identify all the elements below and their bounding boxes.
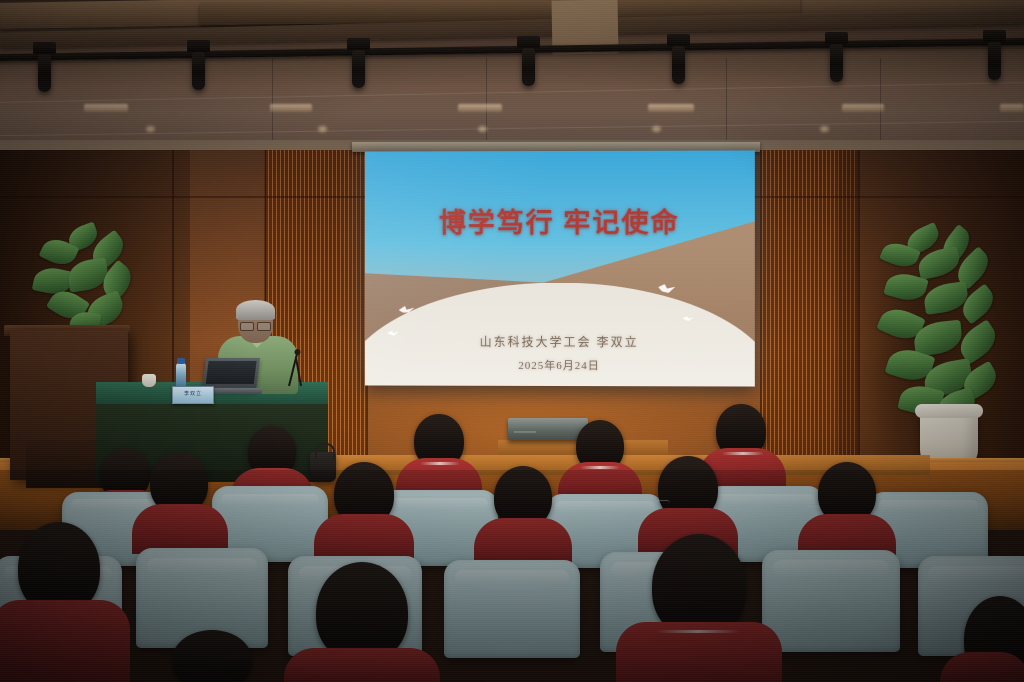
- slide-date-line: 2025年6月24日: [365, 357, 755, 374]
- handbag: [310, 452, 336, 482]
- recessed-panel-light: [1000, 104, 1024, 112]
- track-spotlight-icon: [988, 40, 1001, 80]
- ceiling-downlight: [146, 126, 155, 132]
- audience-chair: [762, 550, 900, 652]
- speaker-hair: [236, 300, 275, 320]
- recessed-panel-light: [84, 104, 128, 112]
- recessed-panel-light: [842, 104, 884, 112]
- ceiling-panel-seam: [0, 82, 1024, 103]
- ceiling: [0, 0, 1024, 152]
- eyeglasses-icon: [806, 506, 820, 512]
- slide-title: 博学笃行 牢记使命: [365, 201, 755, 240]
- ceiling-downlight: [652, 126, 661, 132]
- track-spotlight-icon: [522, 46, 535, 86]
- audience-chair: [444, 560, 580, 658]
- ceiling-downlight: [478, 126, 487, 132]
- ceiling-downlight: [318, 126, 327, 132]
- recessed-panel-light: [648, 104, 694, 112]
- water-bottle-cap: [177, 358, 185, 364]
- ceiling-panel-seam: [726, 58, 727, 152]
- speaker-glasses-icon: [240, 322, 271, 329]
- speaker-nameplate-text: 李双立: [173, 387, 213, 402]
- projection-screen: 博学笃行 牢记使命 山东科技大学工会 李双立 2025年6月24日: [365, 150, 755, 386]
- track-spotlight-icon: [352, 48, 365, 88]
- eyeglasses-icon: [656, 500, 670, 506]
- ceiling-downlight: [820, 126, 829, 132]
- recessed-panel-light: [270, 104, 312, 112]
- laptop-screen: [206, 361, 257, 384]
- track-spotlight-icon: [830, 42, 843, 82]
- potted-plant-left: [34, 226, 144, 336]
- slide-organization-line: 山东科技大学工会 李双立: [365, 333, 755, 351]
- tea-cup: [142, 374, 156, 387]
- track-spotlight-icon: [192, 50, 205, 90]
- speaker-nameplate: 李双立: [172, 386, 214, 404]
- recessed-panel-light: [458, 104, 502, 112]
- av-equipment-unit: [508, 418, 588, 440]
- track-spotlight-icon: [38, 52, 51, 92]
- track-spotlight-icon: [672, 44, 685, 84]
- lecture-hall-photo: 博学笃行 牢记使命 山东科技大学工会 李双立 2025年6月24日: [0, 0, 1024, 682]
